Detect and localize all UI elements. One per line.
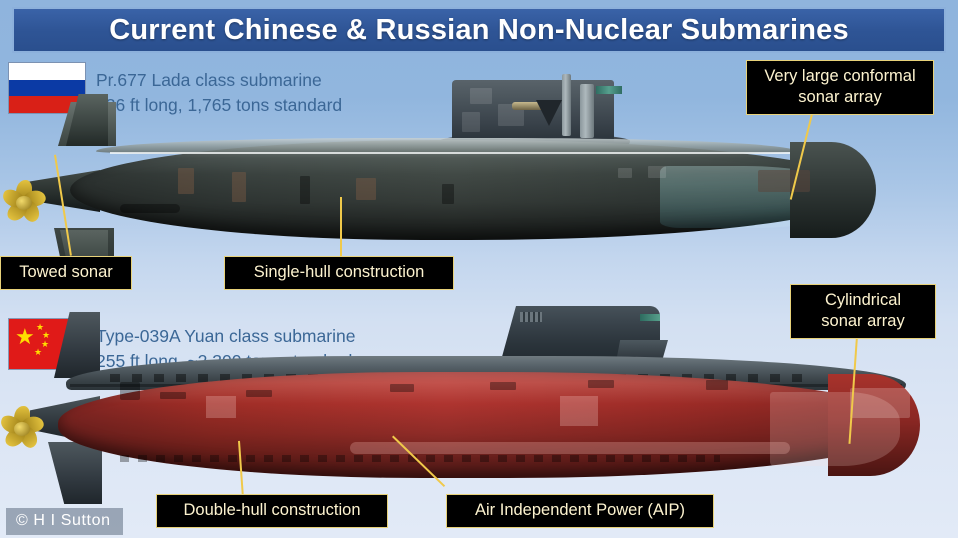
lada-sensor-icon (596, 86, 622, 94)
yuan-hull-patch (560, 396, 598, 426)
lada-sail-panel (470, 88, 492, 104)
callout-double-hull[interactable]: Double-hull construction (156, 494, 388, 528)
lada-mast (580, 84, 594, 138)
yuan-sail-vent (520, 312, 542, 322)
yuan-upper-fin (54, 312, 100, 378)
lada-sail-panel (462, 112, 480, 132)
yuan-sensor-icon (640, 314, 660, 321)
copyright-watermark: © H I Sutton (6, 508, 123, 535)
yuan-stern-port (120, 382, 140, 400)
callout-aip[interactable]: Air Independent Power (AIP) (446, 494, 714, 528)
yuan-propeller-icon (2, 400, 40, 456)
lada-hull-marking (178, 168, 194, 194)
yuan-aip-section (350, 442, 790, 454)
callout-conformal-sonar[interactable]: Very large conformal sonar array (746, 60, 934, 115)
lada-hull-marking (442, 184, 454, 204)
callout-single-hull[interactable]: Single-hull construction (224, 256, 454, 290)
callout-cylindrical-sonar[interactable]: Cylindrical sonar array (790, 284, 936, 339)
lada-deck-line (110, 152, 810, 154)
title-banner: Current Chinese & Russian Non-Nuclear Su… (12, 7, 946, 53)
lada-propeller-icon (4, 174, 42, 230)
lada-periscope-icon (536, 100, 562, 126)
yuan-hull-port (588, 380, 614, 388)
leader-line-single-hull (340, 197, 342, 257)
lada-hull-port (618, 168, 632, 178)
yuan-hull-port (390, 384, 414, 392)
infographic-canvas: Current Chinese & Russian Non-Nuclear Su… (0, 0, 958, 538)
yuan-hull-port (706, 380, 728, 390)
lada-bow-hatch (758, 170, 810, 192)
yuan-lower-fin (48, 442, 102, 504)
yuan-hull-port (246, 390, 272, 397)
yuan-hull-patch (206, 396, 236, 418)
callout-towed-sonar[interactable]: Towed sonar (0, 256, 132, 290)
lada-flood-ports (120, 204, 180, 213)
lada-hull-marking (356, 178, 376, 200)
lada-hull-marking (232, 172, 246, 202)
yuan-hull-port (160, 392, 186, 399)
lada-upper-fin (66, 94, 108, 146)
lada-hull-port (648, 166, 666, 178)
yuan-hull-port (490, 382, 516, 390)
lada-mast (562, 74, 571, 136)
page-title: Current Chinese & Russian Non-Nuclear Su… (109, 14, 849, 47)
lada-hull-marking (300, 176, 310, 204)
yuan-bow-sonar-panel (850, 388, 910, 418)
